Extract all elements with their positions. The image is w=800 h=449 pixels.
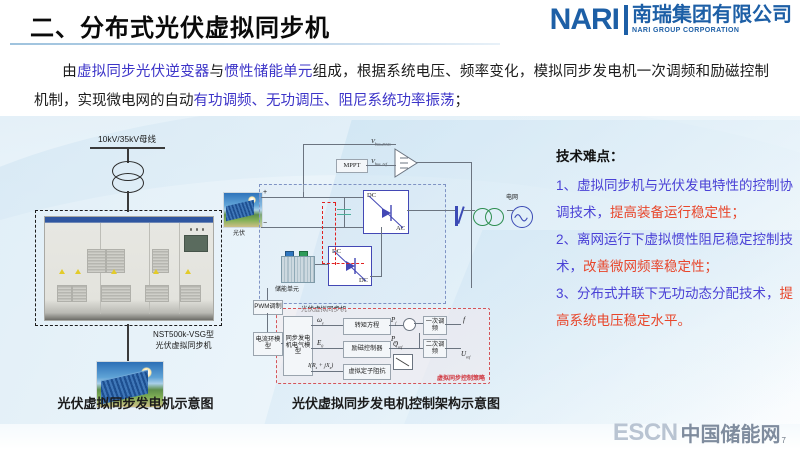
para-highlight-functions: 有功调频、无功调压、阻尼系统功率振荡 (194, 93, 455, 109)
pv-panel-shape-small (226, 200, 254, 221)
dc-bus-negative-rail (261, 227, 371, 228)
wire-meas-to-amp (303, 144, 396, 145)
wire-secondary-link (419, 333, 420, 348)
summation-node (403, 318, 416, 331)
pwm-modulation-block: PWM调制 (253, 300, 283, 315)
pv-source-label: 光伏 (233, 228, 245, 237)
droop-curve-icon (393, 354, 413, 370)
secondary-frequency-block: 二次调频 (423, 339, 447, 358)
uref-sub: ref (466, 354, 470, 359)
signal-uref-label: Uref (461, 350, 470, 359)
challenge-3-index: 3、 (556, 286, 577, 301)
para-seg-3: 与 (210, 64, 225, 80)
inverter-cabinet-photo (44, 216, 214, 321)
device-model-line2: 光伏虚拟同步机 (156, 341, 212, 350)
primary-frequency-block: 一次调频 (423, 316, 447, 335)
grid-label: 电网 (506, 192, 518, 201)
qref-sub: ref (398, 344, 402, 349)
omega-sub: e (322, 320, 324, 325)
cabinet-hmi-panel (184, 235, 208, 252)
figure-left-caption: 光伏虚拟同步发电机示意图 (18, 393, 253, 412)
wire-amp-out-down (471, 162, 472, 288)
dc-link-capacitor-line (344, 197, 345, 227)
para-seg-1: 由 (62, 64, 77, 80)
page-title: 二、分布式光伏虚拟同步机 (30, 8, 330, 43)
challenge-3-blue: 分布式并联下无功动态分配技术， (577, 286, 780, 301)
comparator-amplifier-icon (394, 148, 416, 176)
grid-transformer-symbol (473, 208, 507, 224)
intro-paragraph: 由虚拟同步光伏逆变器与惯性储能单元组成，根据系统电压、频率变化，模拟同步发电机一… (34, 58, 769, 116)
wire-f-in (445, 324, 461, 325)
signal-e0-label: E0 (317, 339, 323, 348)
transformer-symbol (112, 161, 144, 193)
watermark-brand: ESCN (613, 421, 678, 445)
wire-amp-out (416, 162, 471, 163)
dc-cap-plate-2 (337, 214, 351, 215)
challenge-item-2: 2、离网运行下虚拟惯性阻尼稳定控制技术，改善微网频率稳定性； (556, 226, 794, 280)
circuit-breaker-switch (457, 206, 464, 224)
para-seg-7: ； (455, 93, 470, 109)
wire-mppt-to-amp (366, 165, 396, 166)
dc-cap-plate-1 (337, 209, 351, 210)
logo-divider-bar (624, 5, 628, 35)
dc-negative-sign: − (263, 220, 267, 227)
battery-storage-icon (279, 250, 315, 282)
para-highlight-storage: 惯性储能单元 (224, 64, 312, 80)
signal-pf-label: Pf (391, 316, 396, 325)
signal-vbus-meas-label: Vbus_meas (371, 138, 391, 146)
imp-1: I(R (308, 363, 316, 369)
wire-uref-in (445, 348, 461, 349)
transformer-to-cabinet-line (127, 191, 129, 212)
red-control-path-vertical-1 (322, 206, 323, 264)
figure-left-schematic: 10kV/35kV母线 (33, 133, 233, 418)
pv-source-photo (223, 192, 263, 228)
wire-pwm-up (267, 288, 268, 300)
red-control-path-top (322, 202, 336, 203)
logo-company-en: NARI GROUP CORPORATION (632, 27, 792, 34)
dc-ac-converter-block: DC AC (363, 190, 409, 234)
virtual-stator-impedance-block: 虚拟定子阻抗 (343, 364, 391, 380)
figure-middle-caption: 光伏虚拟同步发电机控制架构示意图 (256, 393, 536, 412)
challenge-1-red: 提高装备运行稳定性； (610, 205, 745, 220)
cabinet-to-pv-line (127, 324, 129, 361)
wire-sum-to-primary (414, 323, 423, 324)
challenge-2-red: 改善微网频率稳定性； (583, 259, 718, 274)
wire-pwm-to-current (267, 313, 268, 332)
current-loop-block: 电流环模型 (253, 332, 283, 356)
para-highlight-inverter: 虚拟同步光伏逆变器 (77, 64, 210, 80)
bus-voltage-label: 10kV/35kV母线 (67, 133, 187, 145)
wire-current-to-gen (281, 343, 283, 344)
technical-challenges-panel: 技术难点： 1、虚拟同步机与光伏发电特性的控制协调技术，提高装备运行稳定性； 2… (556, 143, 794, 334)
mppt-block: MPPT (336, 159, 368, 173)
signal-qref-label: Qref (393, 340, 402, 349)
torque-equation-block: 转矩方程 (343, 318, 391, 335)
cabinet-dashed-frame (35, 210, 222, 326)
device-model-label: NST500k-VSG型 光伏虚拟同步机 (131, 329, 236, 351)
red-control-path-horizontal (322, 263, 364, 264)
challenge-1-index: 1、 (556, 178, 577, 193)
challenge-item-3: 3、分布式并联下无功动态分配技术，提高系统电压稳定水平。 (556, 280, 794, 334)
wire-omega (311, 325, 343, 326)
page-number: 7 (782, 436, 786, 445)
dc-bus-tap (303, 192, 304, 198)
wire-impedance (311, 371, 343, 372)
title-divider (10, 43, 500, 45)
watermark-cn: 中国储能网 (681, 425, 781, 445)
storage-unit-label: 储能单元 (275, 284, 299, 293)
device-model-line1: NST500k-VSG型 (153, 330, 214, 339)
signal-f-label: f (463, 315, 465, 324)
wire-dcdc-to-dcbus (381, 227, 382, 276)
escn-watermark: ESCN 中国储能网 7 (613, 421, 786, 445)
imp-mid: + jX (317, 363, 329, 369)
wire-converter-to-grid (407, 210, 457, 211)
dc-positive-sign: + (263, 189, 267, 196)
nari-logo: NARI 南瑞集团有限公司 NARI GROUP CORPORATION (550, 5, 792, 35)
wire-dcdc-out (370, 276, 382, 277)
figure-middle-control-architecture: Vbus_meas Vbus_ref MPPT 光伏 光伏虚拟同步机 (223, 136, 543, 386)
pf-sub: f (395, 320, 396, 325)
logo-company-cn: 南瑞集团有限公司 (632, 5, 792, 26)
red-control-path-vertical-2 (335, 203, 336, 265)
wire-e0 (311, 348, 343, 349)
challenges-heading: 技术难点： (556, 143, 794, 170)
signal-impedance-label: I(Rs + jXs) (308, 363, 333, 370)
imp-end: ) (331, 363, 333, 369)
slide-root: 二、分布式光伏虚拟同步机 NARI 南瑞集团有限公司 NARI GROUP CO… (0, 0, 800, 449)
grid-ac-source-symbol (511, 206, 533, 228)
dc-bus-positive-rail (261, 197, 371, 198)
challenge-2-index: 2、 (556, 232, 577, 247)
logo-wordmark: NARI (550, 5, 619, 35)
excitation-controller-block: 励磁控制器 (343, 341, 391, 358)
signal-omega-label: ωe (317, 316, 324, 325)
e0-sub: 0 (321, 343, 323, 348)
strategy-tag-label: 虚拟同步控制策略 (437, 373, 485, 382)
challenge-item-1: 1、虚拟同步机与光伏发电特性的控制协调技术，提高装备运行稳定性； (556, 172, 794, 226)
